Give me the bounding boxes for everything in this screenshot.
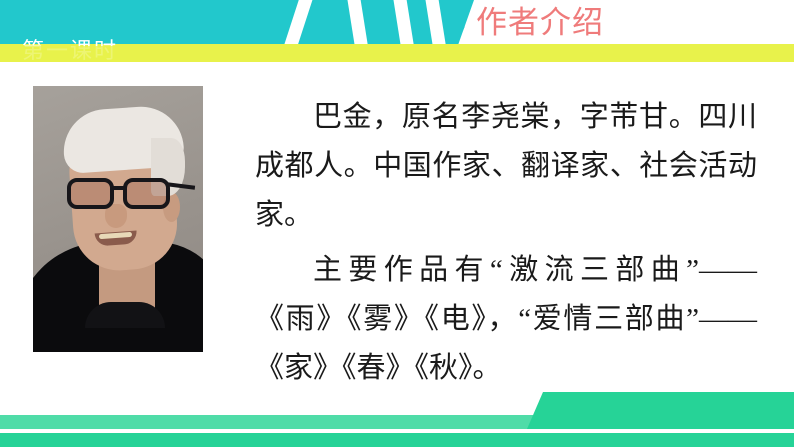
stripe-decoration (423, 0, 450, 48)
stripe-decoration (276, 0, 317, 48)
yellow-band-overlay (0, 46, 794, 62)
bottom-green-band (0, 433, 794, 447)
glasses-left-lens (67, 178, 114, 209)
stripe-decoration (391, 0, 418, 48)
author-portrait-photo (33, 86, 203, 352)
portrait-glasses (65, 178, 181, 210)
body-text-block: 巴金，原名李尧棠，字芾甘。四川成都人。中国作家、翻译家、社会活动家。 主要作品有… (255, 93, 757, 393)
body-paragraph-2: 主要作品有“激流三部曲”——《雨》《雾》《电》，“爱情三部曲”——《家》《春》《… (255, 246, 757, 393)
page-title: 作者介绍 (476, 0, 604, 48)
slide-root: 作者介绍 第一课时 巴金，原名李尧棠，字芾甘。四川成都人。中国作家、翻译家、社会… (0, 0, 794, 447)
glasses-bridge (113, 186, 125, 190)
glasses-right-lens (123, 178, 170, 209)
body-paragraph-1: 巴金，原名李尧棠，字芾甘。四川成都人。中国作家、翻译家、社会活动家。 (255, 93, 757, 240)
portrait-collar (85, 302, 165, 328)
bottom-green-wedge (527, 392, 794, 429)
stripe-decoration (345, 0, 372, 48)
